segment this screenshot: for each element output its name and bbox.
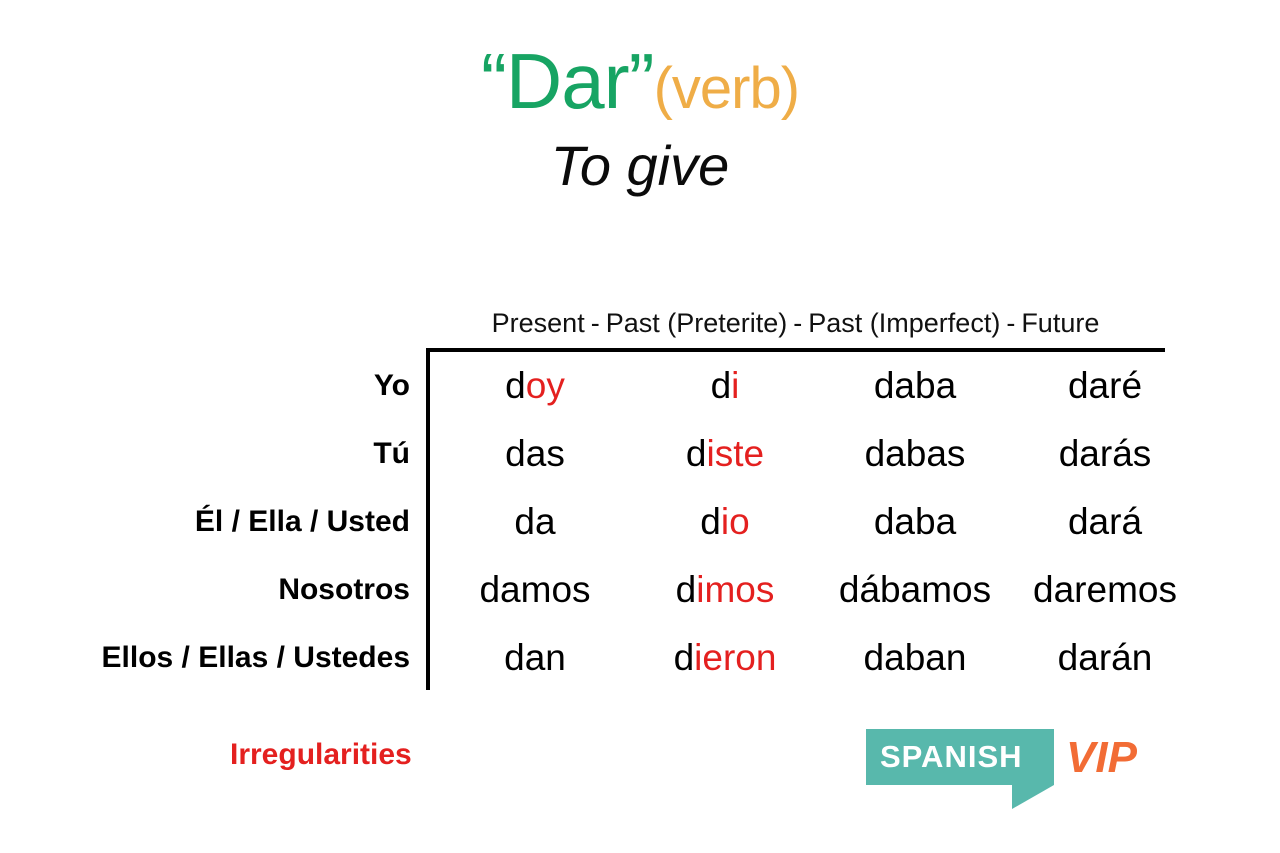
conjugation-cells: doy di daba daré [440,365,1200,407]
title-block: “Dar”(verb) To give [0,0,1280,194]
pronoun-label: Él / Ella / Usted [0,505,430,539]
conjugation-cells: dan dieron daban darán [440,637,1200,679]
cell-stem: daban [864,637,967,678]
conjugation-cells: damos dimos dábamos daremos [440,569,1200,611]
cell-stem: d [505,365,526,406]
page-title: “Dar”(verb) [0,42,1280,120]
tense-header-present: Present [492,308,585,338]
cell-future: darán [1010,637,1200,679]
cell-irregular: oy [526,365,565,406]
tense-separator-2: - [787,308,808,338]
cell-preterite: diste [630,433,820,475]
cell-stem: dará [1068,501,1142,542]
pronoun-label: Yo [0,369,430,403]
conjugation-cells: das diste dabas darás [440,433,1200,475]
verb-translation: To give [0,138,1280,194]
cell-future: dará [1010,501,1200,543]
cell-stem: damos [479,569,590,610]
cell-irregular: iste [707,433,765,474]
irregularities-legend: Irregularities [230,738,412,772]
cell-stem: daré [1068,365,1142,406]
table-row: Yo doy di daba daré [0,352,1280,420]
cell-imperfect: dábamos [820,569,1010,611]
cell-stem: daba [874,501,956,542]
tense-header-preterite: Past (Preterite) [606,308,788,338]
cell-preterite: dieron [630,637,820,679]
cell-present: doy [440,365,630,407]
table-row: Tú das diste dabas darás [0,420,1280,488]
table-row: Nosotros damos dimos dábamos daremos [0,556,1280,624]
cell-imperfect: daba [820,501,1010,543]
cell-present: das [440,433,630,475]
tense-separator-1: - [585,308,606,338]
cell-stem: d [674,637,695,678]
verb-close-quote: ” [629,37,654,125]
cell-future: darás [1010,433,1200,475]
verb-infinitive: Dar [506,37,629,125]
cell-irregular: io [721,501,750,542]
pronoun-label: Tú [0,437,430,471]
verb-part-of-speech: (verb) [654,56,799,121]
cell-stem: daremos [1033,569,1177,610]
conjugation-rows: Yo doy di daba daré Tú das diste dabas d… [0,352,1280,692]
cell-imperfect: dabas [820,433,1010,475]
cell-preterite: dio [630,501,820,543]
cell-stem: d [686,433,707,474]
cell-stem: darás [1059,433,1152,474]
cell-present: damos [440,569,630,611]
cell-stem: daba [874,365,956,406]
cell-stem: das [505,433,565,474]
tense-header-row: Present-Past (Preterite)-Past (Imperfect… [426,308,1165,339]
conjugation-cells: da dio daba dará [440,501,1200,543]
cell-irregular: imos [696,569,774,610]
tense-header-imperfect: Past (Imperfect) [808,308,1000,338]
logo-vip-text: VIP [1066,735,1137,781]
cell-stem: dan [504,637,566,678]
cell-future: daremos [1010,569,1200,611]
cell-stem: d [700,501,721,542]
table-row: Él / Ella / Usted da dio daba dará [0,488,1280,556]
speech-bubble-tail-icon [1012,785,1054,809]
cell-stem: d [711,365,732,406]
cell-stem: dábamos [839,569,991,610]
cell-present: dan [440,637,630,679]
cell-preterite: dimos [630,569,820,611]
tense-header-future: Future [1021,308,1099,338]
pronoun-label: Ellos / Ellas / Ustedes [0,641,430,675]
cell-future: daré [1010,365,1200,407]
cell-stem: d [676,569,697,610]
cell-imperfect: daba [820,365,1010,407]
spanishvip-logo: SPANISH VIP [866,729,1186,813]
pronoun-label: Nosotros [0,573,430,607]
verb-open-quote: “ [481,37,506,125]
tense-separator-3: - [1000,308,1021,338]
cell-stem: da [514,501,555,542]
cell-irregular: ieron [694,637,776,678]
cell-imperfect: daban [820,637,1010,679]
cell-stem: dabas [865,433,966,474]
cell-present: da [440,501,630,543]
logo-spanish-text: SPANISH [880,739,1023,775]
cell-stem: darán [1058,637,1153,678]
table-row: Ellos / Ellas / Ustedes dan dieron daban… [0,624,1280,692]
cell-irregular: i [731,365,739,406]
cell-preterite: di [630,365,820,407]
